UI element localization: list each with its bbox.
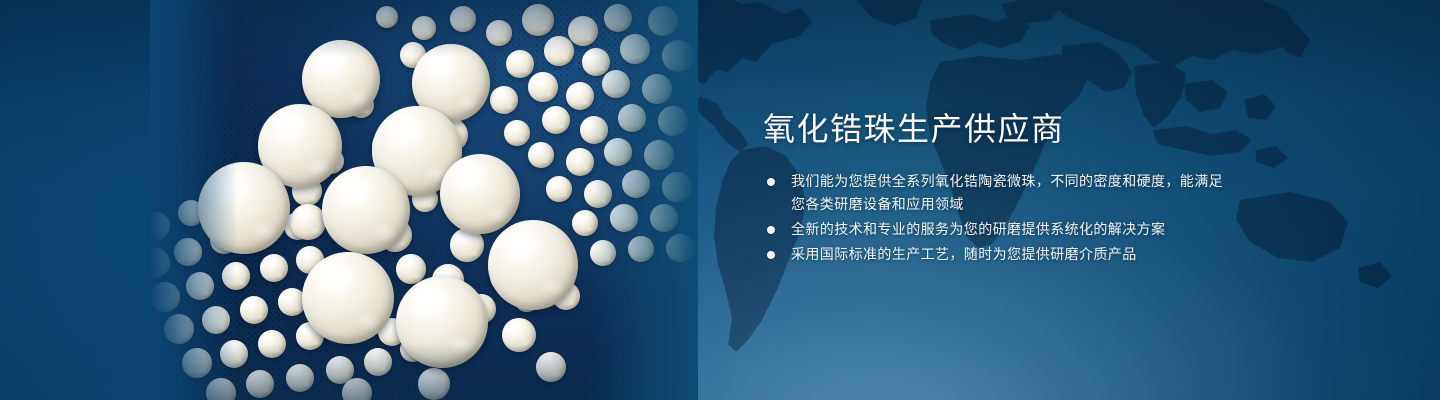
bead xyxy=(502,318,536,352)
bead xyxy=(418,368,450,400)
bead xyxy=(506,50,534,78)
bead xyxy=(182,348,212,378)
bead xyxy=(650,204,678,232)
hero-banner: 氧化锆珠生产供应商 我们能为您提供全系列氧化锆陶瓷微珠，不同的密度和硬度，能满足… xyxy=(0,0,1440,400)
bead xyxy=(490,86,518,114)
bead xyxy=(198,162,290,254)
bead xyxy=(206,378,236,400)
bead xyxy=(220,340,248,368)
bead-cluster xyxy=(150,0,698,400)
bullet-text: 全新的技术和专业的服务为您的研磨提供系统化的解决方案 xyxy=(791,218,1233,241)
bead xyxy=(648,6,678,36)
bead xyxy=(618,104,646,132)
bead xyxy=(322,166,410,254)
bead xyxy=(486,20,512,46)
bead xyxy=(488,220,578,310)
bead xyxy=(590,240,616,266)
bead xyxy=(440,154,520,234)
list-item: 采用国际标准的生产工艺，随时为您提供研磨介质产品 xyxy=(763,243,1233,266)
bead xyxy=(622,170,650,198)
bead xyxy=(566,148,594,176)
bead xyxy=(610,204,638,232)
bead xyxy=(572,210,598,236)
bead xyxy=(604,4,632,32)
bead xyxy=(546,176,572,202)
bead xyxy=(666,234,694,262)
bead xyxy=(642,74,672,104)
bead xyxy=(186,272,214,300)
bead xyxy=(174,238,202,266)
bead xyxy=(582,48,610,76)
bead xyxy=(620,34,650,64)
bead xyxy=(604,138,632,166)
product-photo-zirconia-beads xyxy=(150,0,698,400)
bead xyxy=(246,370,274,398)
bead xyxy=(364,348,392,376)
bead xyxy=(542,106,570,134)
bead xyxy=(658,106,688,136)
bullet-text: 采用国际标准的生产工艺，随时为您提供研磨介质产品 xyxy=(791,243,1233,266)
bead xyxy=(628,236,654,262)
bead xyxy=(260,254,288,282)
bead xyxy=(580,116,608,144)
bead xyxy=(584,180,612,208)
bead xyxy=(568,16,598,46)
bead xyxy=(290,204,326,240)
banner-bullet-list: 我们能为您提供全系列氧化锆陶瓷微珠，不同的密度和硬度，能满足您各类研磨设备和应用… xyxy=(763,170,1233,266)
banner-headline: 氧化锆珠生产供应商 xyxy=(763,109,1065,149)
bead xyxy=(504,120,530,146)
bead xyxy=(164,314,194,344)
bead xyxy=(150,212,170,240)
bead xyxy=(602,70,630,98)
bullet-dot-icon xyxy=(767,251,775,259)
bead xyxy=(536,352,566,382)
bead xyxy=(376,6,398,28)
bead xyxy=(150,248,170,278)
bullet-dot-icon xyxy=(767,178,775,186)
bullet-dot-icon xyxy=(767,226,775,234)
banner-content: 氧化锆珠生产供应商 我们能为您提供全系列氧化锆陶瓷微珠，不同的密度和硬度，能满足… xyxy=(763,0,1323,400)
bead xyxy=(528,72,558,102)
list-item: 我们能为您提供全系列氧化锆陶瓷微珠，不同的密度和硬度，能满足您各类研磨设备和应用… xyxy=(763,170,1233,216)
bead xyxy=(202,306,230,334)
bead xyxy=(286,364,314,392)
bead xyxy=(566,82,594,110)
bead xyxy=(150,282,180,312)
bead xyxy=(662,172,692,202)
bead xyxy=(412,16,436,40)
bead xyxy=(222,262,250,290)
bead xyxy=(342,378,372,400)
bead xyxy=(396,276,488,368)
bead xyxy=(528,142,554,168)
bead xyxy=(522,4,554,36)
bead xyxy=(240,296,268,324)
bullet-text: 我们能为您提供全系列氧化锆陶瓷微珠，不同的密度和硬度，能满足您各类研磨设备和应用… xyxy=(791,170,1233,216)
list-item: 全新的技术和专业的服务为您的研磨提供系统化的解决方案 xyxy=(763,218,1233,241)
bead xyxy=(644,140,674,170)
bead xyxy=(450,6,476,32)
bead xyxy=(302,252,394,344)
bead xyxy=(544,36,574,66)
bead xyxy=(258,330,286,358)
bead xyxy=(662,40,694,72)
